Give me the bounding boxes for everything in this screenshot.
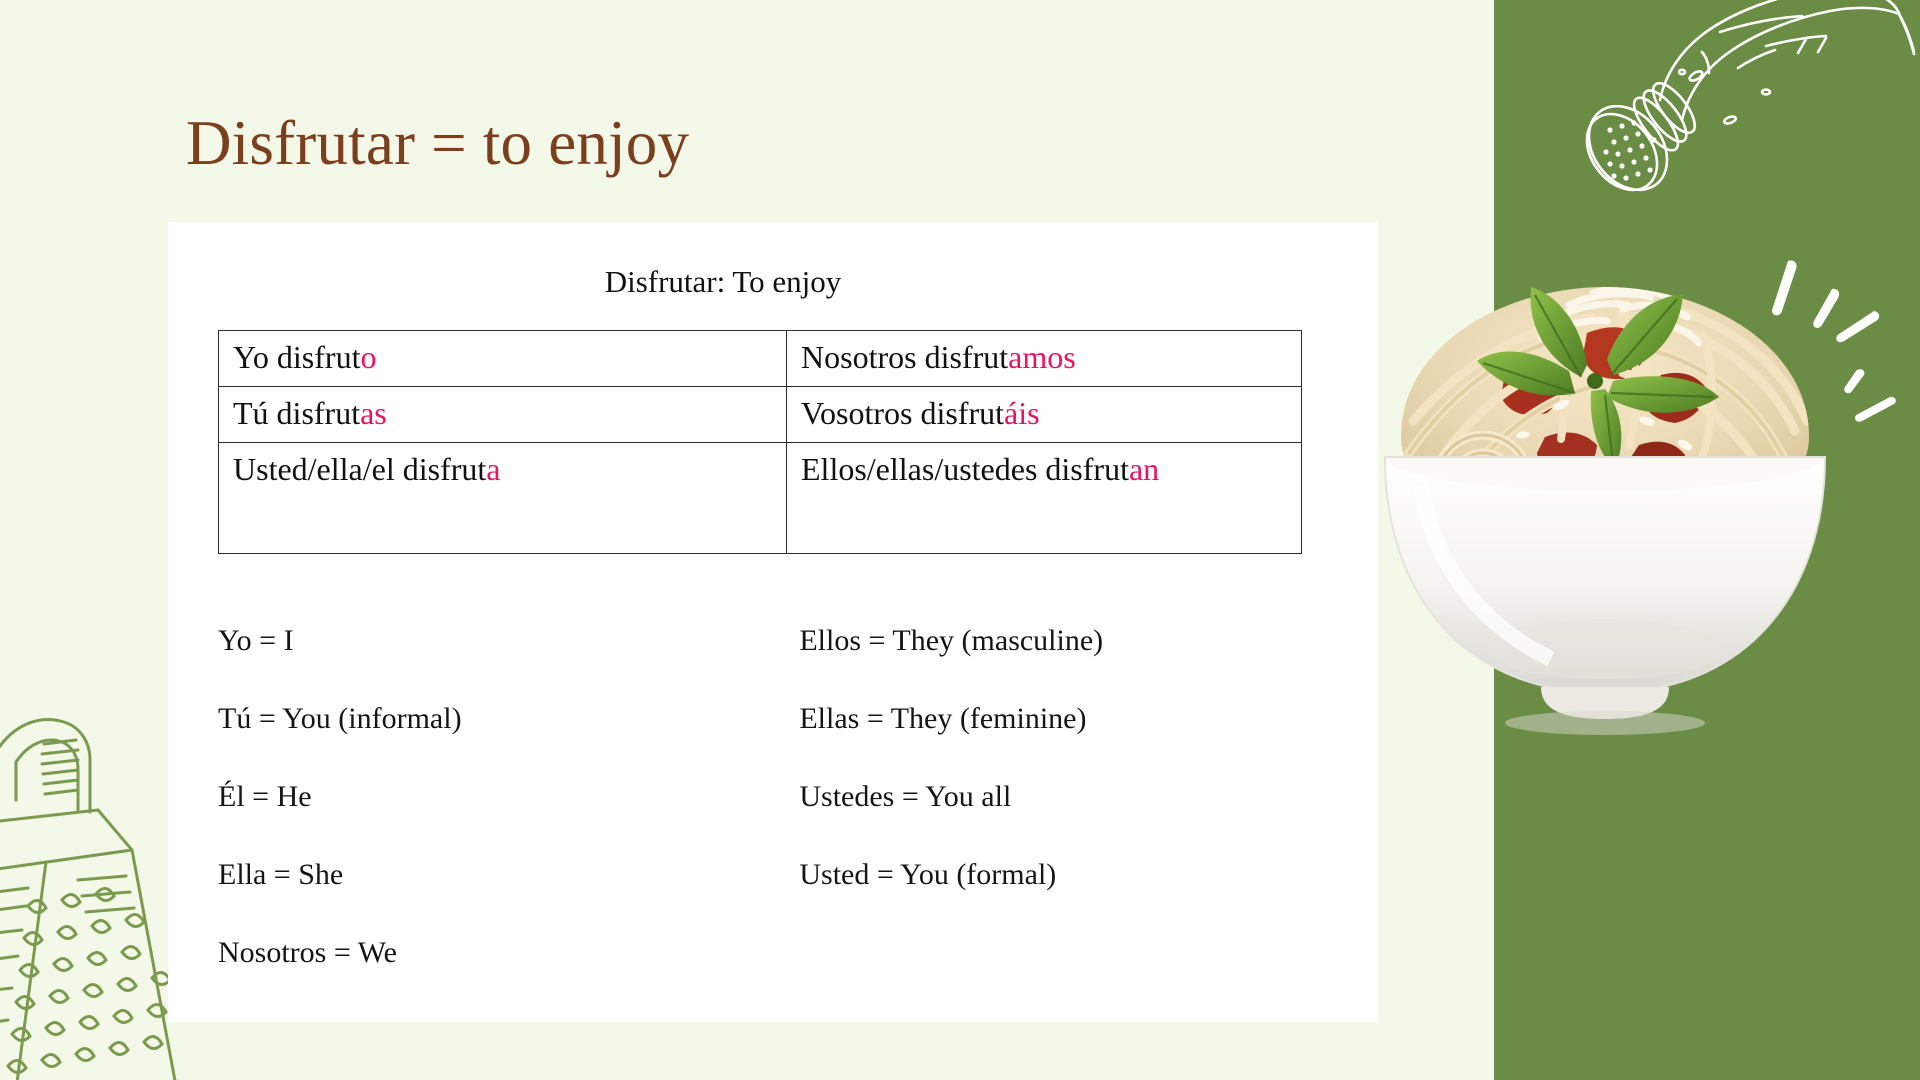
page-title: Disfrutar = to enjoy — [186, 110, 689, 176]
list-item: Tú = You (informal) — [218, 680, 777, 758]
cell-tu: Tú disfrutas — [219, 386, 787, 442]
table-row: Usted/ella/el disfruta Ellos/ellas/usted… — [219, 442, 1302, 553]
green-side-panel — [1494, 0, 1920, 1080]
slide-canvas: Disfrutar = to enjoy Disfrutar: To enjoy… — [0, 0, 1920, 1080]
ending-text: áis — [1004, 395, 1040, 431]
list-item: Ustedes = You all — [799, 758, 1378, 836]
ending-text: as — [360, 395, 387, 431]
list-item: Usted = You (formal) — [799, 836, 1378, 914]
stem-text: Yo disfrut — [233, 339, 360, 375]
ending-text: o — [360, 339, 376, 375]
stem-text: Usted/ella/el disfrut — [233, 451, 486, 487]
pronoun-legend-right-column: Ellos = They (masculine) Ellas = They (f… — [777, 602, 1378, 992]
stem-text: Vosotros disfrut — [801, 395, 1004, 431]
list-item: Nosotros = We — [218, 914, 777, 992]
list-item: Ellas = They (feminine) — [799, 680, 1378, 758]
cell-vosotros: Vosotros disfrutáis — [787, 386, 1302, 442]
list-item: Ellos = They (masculine) — [799, 602, 1378, 680]
card-heading: Disfrutar: To enjoy — [168, 264, 1278, 300]
cell-nosotros: Nosotros disfrutamos — [787, 331, 1302, 387]
cell-ellos-ellas-ustedes: Ellos/ellas/ustedes disfrutan — [787, 442, 1302, 553]
ending-text: amos — [1008, 339, 1076, 375]
stem-text: Tú disfrut — [233, 395, 360, 431]
cell-yo: Yo disfruto — [219, 331, 787, 387]
content-card: Disfrutar: To enjoy Yo disfruto Nosotros… — [168, 222, 1378, 1022]
table-row: Yo disfruto Nosotros disfrutamos — [219, 331, 1302, 387]
ending-text: a — [486, 451, 500, 487]
conjugation-table: Yo disfruto Nosotros disfrutamos Tú disf… — [218, 330, 1302, 554]
ending-text: an — [1129, 451, 1159, 487]
pronoun-legend-left-column: Yo = I Tú = You (informal) Él = He Ella … — [182, 602, 777, 992]
list-item: Ella = She — [218, 836, 777, 914]
list-item: Yo = I — [218, 602, 777, 680]
table-row: Tú disfrutas Vosotros disfrutáis — [219, 386, 1302, 442]
pronoun-legend: Yo = I Tú = You (informal) Él = He Ella … — [182, 602, 1378, 992]
stem-text: Ellos/ellas/ustedes disfrut — [801, 451, 1129, 487]
stem-text: Nosotros disfrut — [801, 339, 1008, 375]
list-item: Él = He — [218, 758, 777, 836]
cell-usted-ella-el: Usted/ella/el disfruta — [219, 442, 787, 553]
